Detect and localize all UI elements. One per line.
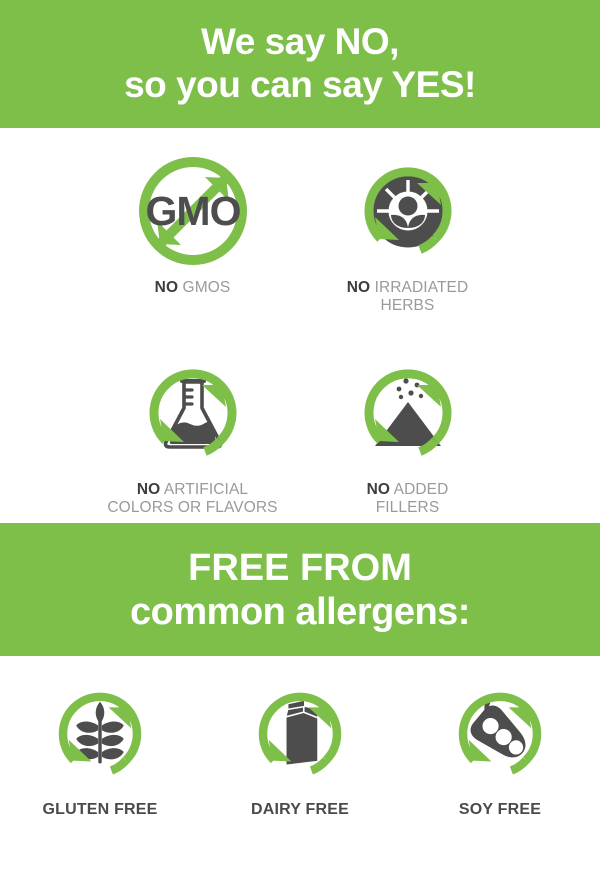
soy-free-icon <box>444 678 556 790</box>
no-claim-text-1: ARTIFICIAL <box>164 481 248 498</box>
allergen-claim-dairy: DAIRY FREE <box>200 678 400 819</box>
headline-line-2: so you can say YES! <box>124 64 476 107</box>
dairy-free-icon <box>244 678 356 790</box>
no-word: NO <box>347 279 370 296</box>
headline-line-1: We say NO, <box>201 21 399 64</box>
no-claims-row-1: GMO NO GMOS <box>0 152 600 316</box>
no-claim-text-2: COLORS OR FLAVORS <box>107 499 277 516</box>
headline-banner: We say NO, so you can say YES! <box>0 0 600 128</box>
no-claims-section: GMO NO GMOS <box>0 128 600 523</box>
no-artificial-colors-icon <box>134 354 252 472</box>
no-word: NO <box>367 481 390 498</box>
gluten-free-icon <box>44 678 156 790</box>
no-claims-row-2: NO ARTIFICIAL COLORS OR FLAVORS <box>0 354 600 518</box>
no-claim-text-2: FILLERS <box>376 499 440 516</box>
no-claim-caption: NO GMOS <box>155 279 231 297</box>
no-added-fillers-icon <box>349 354 467 472</box>
no-irradiated-herbs-icon <box>349 152 467 270</box>
allergen-banner: FREE FROM common allergens: <box>0 523 600 656</box>
allergen-claim-gluten: GLUTEN FREE <box>0 678 200 819</box>
allergen-claim-label: SOY FREE <box>459 801 541 819</box>
allergen-claim-label: GLUTEN FREE <box>42 801 157 819</box>
no-claim-artificial-colors: NO ARTIFICIAL COLORS OR FLAVORS <box>85 354 300 518</box>
no-claim-caption: NO ARTIFICIAL COLORS OR FLAVORS <box>107 481 277 518</box>
allergen-claim-soy: SOY FREE <box>400 678 600 819</box>
no-claim-text-1: GMOS <box>183 279 231 296</box>
svg-text:GMO: GMO <box>145 188 240 234</box>
allergen-claims-row: GLUTEN FREE DAIRY FREE <box>0 656 600 819</box>
no-claim-added-fillers: NO ADDED FILLERS <box>300 354 515 518</box>
allergen-headline-line-2: common allergens: <box>130 590 470 634</box>
no-claim-irradiated-herbs: NO IRRADIATED HERBS <box>300 152 515 316</box>
no-claim-gmos: GMO NO GMOS <box>85 152 300 316</box>
no-claim-text-1: IRRADIATED <box>375 279 469 296</box>
no-claim-caption: NO ADDED FILLERS <box>367 481 449 518</box>
no-word: NO <box>155 279 178 296</box>
no-claim-text-1: ADDED <box>394 481 449 498</box>
no-claim-text-2: HERBS <box>381 297 435 314</box>
allergen-claim-label: DAIRY FREE <box>251 801 349 819</box>
no-word: NO <box>137 481 160 498</box>
no-gmo-icon: GMO <box>134 152 252 270</box>
no-claim-caption: NO IRRADIATED HERBS <box>347 279 469 316</box>
allergen-headline-line-1: FREE FROM <box>188 546 412 590</box>
